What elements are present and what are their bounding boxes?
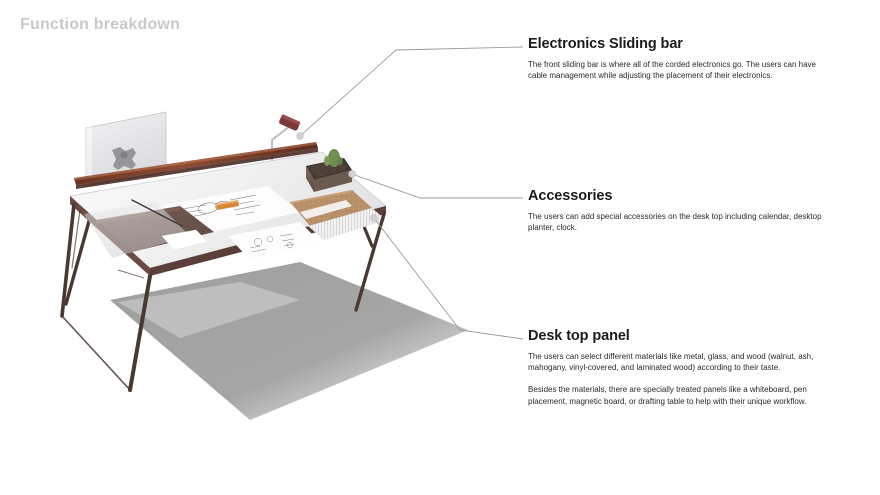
callout-title-desk-top-panel: Desk top panel (528, 328, 828, 344)
callout-body-desk-top-panel-p2: Besides the materials, there are special… (528, 384, 828, 406)
callout-title-electronics: Electronics Sliding bar (528, 36, 828, 52)
callout-title-accessories: Accessories (528, 188, 828, 204)
desk-illustration (0, 0, 520, 495)
callout-desk-top-panel: Desk top panel The users can select diff… (528, 328, 828, 407)
cactus-icon (324, 149, 343, 167)
callout-body-electronics-p1: The front sliding bar is where all of th… (528, 59, 828, 81)
callout-body-accessories-p1: The users can add special accessories on… (528, 211, 828, 233)
callout-accessories: Accessories The users can add special ac… (528, 188, 828, 233)
leg-brace (118, 270, 144, 278)
function-breakdown-page: Function breakdown (0, 0, 880, 495)
callout-electronics: Electronics Sliding bar The front slidin… (528, 36, 828, 81)
floor-shadow (110, 262, 468, 420)
callout-body-desk-top-panel-p1: The users can select different materials… (528, 351, 828, 373)
